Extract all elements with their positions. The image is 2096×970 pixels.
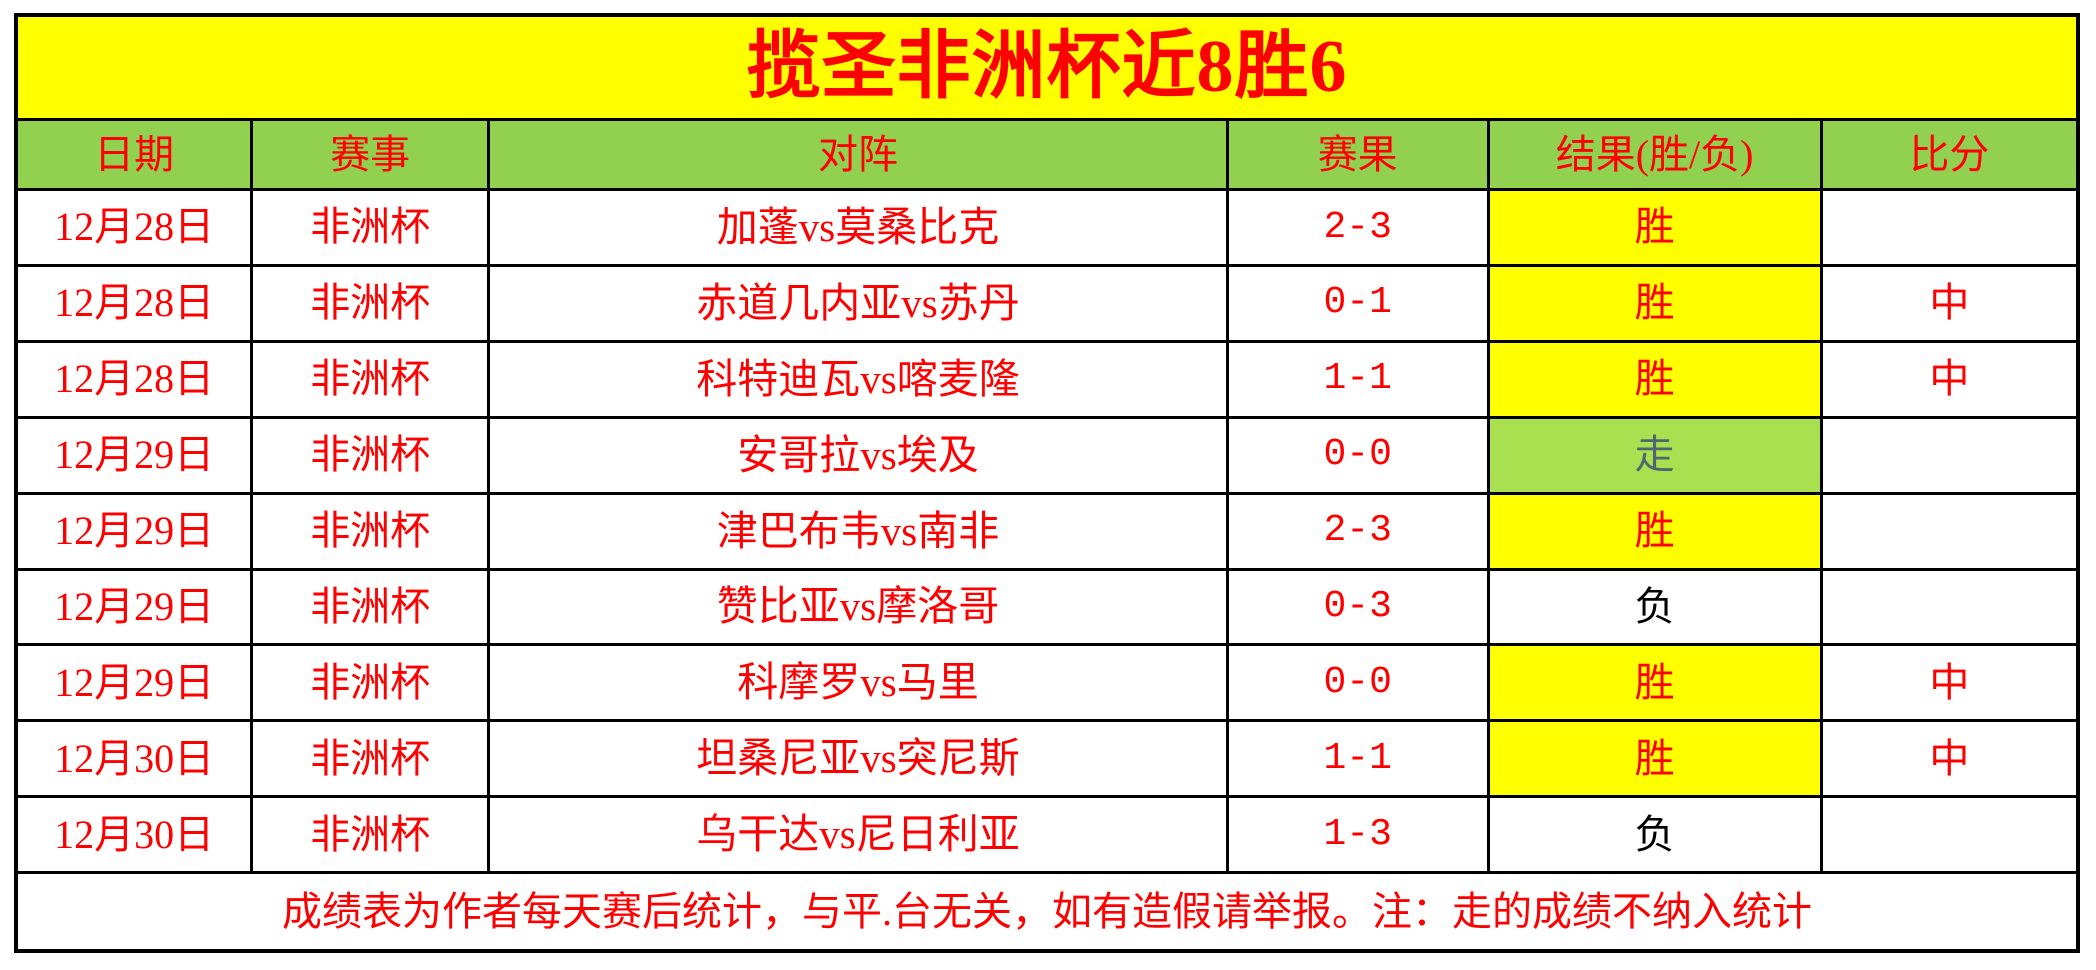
column-header-match: 对阵 (489, 120, 1228, 190)
status-badge: 胜 (1488, 721, 1821, 797)
cell-date: 12月29日 (16, 417, 252, 493)
cell-score: 0-0 (1227, 417, 1488, 493)
cell-score: 0-1 (1227, 265, 1488, 341)
cell-league: 非洲杯 (252, 265, 489, 341)
cell-league: 非洲杯 (252, 721, 489, 797)
cell-date: 12月29日 (16, 569, 252, 645)
cell-match: 安哥拉vs埃及 (489, 417, 1228, 493)
table-row: 12月30日非洲杯坦桑尼亚vs突尼斯1-1胜中 (16, 721, 2078, 797)
cell-league: 非洲杯 (252, 569, 489, 645)
cell-match: 科摩罗vs马里 (489, 645, 1228, 721)
column-header-score: 赛果 (1227, 120, 1488, 190)
cell-date: 12月28日 (16, 190, 252, 266)
status-badge: 负 (1488, 797, 1821, 873)
cell-match: 赤道几内亚vs苏丹 (489, 265, 1228, 341)
cell-mark (1821, 569, 2078, 645)
status-badge: 胜 (1488, 265, 1821, 341)
cell-date: 12月29日 (16, 645, 252, 721)
cell-league: 非洲杯 (252, 341, 489, 417)
cell-date: 12月28日 (16, 341, 252, 417)
cell-match: 津巴布韦vs南非 (489, 493, 1228, 569)
table-row: 12月28日非洲杯加蓬vs莫桑比克2-3胜 (16, 190, 2078, 266)
table-row: 12月30日非洲杯乌干达vs尼日利亚1-3负 (16, 797, 2078, 873)
cell-mark (1821, 190, 2078, 266)
column-header-result: 结果(胜/负) (1488, 120, 1821, 190)
cell-date: 12月30日 (16, 721, 252, 797)
cell-league: 非洲杯 (252, 417, 489, 493)
cell-score: 1-1 (1227, 341, 1488, 417)
cell-mark (1821, 797, 2078, 873)
table-body: 12月28日非洲杯加蓬vs莫桑比克2-3胜12月28日非洲杯赤道几内亚vs苏丹0… (16, 190, 2078, 873)
cell-mark: 中 (1821, 341, 2078, 417)
cell-mark (1821, 417, 2078, 493)
title-row: 揽圣非洲杯近8胜6 (16, 15, 2078, 120)
page-title: 揽圣非洲杯近8胜6 (16, 15, 2078, 120)
cell-match: 加蓬vs莫桑比克 (489, 190, 1228, 266)
cell-league: 非洲杯 (252, 190, 489, 266)
status-badge: 胜 (1488, 645, 1821, 721)
cell-match: 科特迪瓦vs喀麦隆 (489, 341, 1228, 417)
table-row: 12月29日非洲杯赞比亚vs摩洛哥0-3负 (16, 569, 2078, 645)
cell-date: 12月29日 (16, 493, 252, 569)
table-row: 12月28日非洲杯赤道几内亚vs苏丹0-1胜中 (16, 265, 2078, 341)
table-row: 12月28日非洲杯科特迪瓦vs喀麦隆1-1胜中 (16, 341, 2078, 417)
column-header-league: 赛事 (252, 120, 489, 190)
table-row: 12月29日非洲杯安哥拉vs埃及0-0走 (16, 417, 2078, 493)
cell-mark: 中 (1821, 265, 2078, 341)
cell-score: 0-0 (1227, 645, 1488, 721)
cell-league: 非洲杯 (252, 797, 489, 873)
column-header-date: 日期 (16, 120, 252, 190)
footer-note: 成绩表为作者每天赛后统计，与平.台无关，如有造假请举报。注：走的成绩不纳入统计 (16, 873, 2078, 951)
table-header-row: 日期 赛事 对阵 赛果 结果(胜/负) 比分 (16, 120, 2078, 190)
cell-mark (1821, 493, 2078, 569)
cell-match: 赞比亚vs摩洛哥 (489, 569, 1228, 645)
cell-score: 1-3 (1227, 797, 1488, 873)
cell-date: 12月30日 (16, 797, 252, 873)
results-sheet: 揽圣非洲杯近8胜6 日期 赛事 对阵 赛果 结果(胜/负) 比分 12月28日非… (14, 13, 2080, 953)
cell-score: 2-3 (1227, 190, 1488, 266)
footer-note-row: 成绩表为作者每天赛后统计，与平.台无关，如有造假请举报。注：走的成绩不纳入统计 (16, 873, 2078, 951)
table-row: 12月29日非洲杯科摩罗vs马里0-0胜中 (16, 645, 2078, 721)
cell-date: 12月28日 (16, 265, 252, 341)
cell-mark: 中 (1821, 721, 2078, 797)
cell-score: 2-3 (1227, 493, 1488, 569)
cell-match: 坦桑尼亚vs突尼斯 (489, 721, 1228, 797)
cell-match: 乌干达vs尼日利亚 (489, 797, 1228, 873)
match-results-table: 揽圣非洲杯近8胜6 日期 赛事 对阵 赛果 结果(胜/负) 比分 12月28日非… (14, 13, 2080, 953)
status-badge: 胜 (1488, 190, 1821, 266)
table-row: 12月29日非洲杯津巴布韦vs南非2-3胜 (16, 493, 2078, 569)
cell-league: 非洲杯 (252, 645, 489, 721)
status-badge: 走 (1488, 417, 1821, 493)
cell-score: 0-3 (1227, 569, 1488, 645)
cell-score: 1-1 (1227, 721, 1488, 797)
status-badge: 胜 (1488, 493, 1821, 569)
column-header-mark: 比分 (1821, 120, 2078, 190)
cell-league: 非洲杯 (252, 493, 489, 569)
status-badge: 负 (1488, 569, 1821, 645)
status-badge: 胜 (1488, 341, 1821, 417)
cell-mark: 中 (1821, 645, 2078, 721)
